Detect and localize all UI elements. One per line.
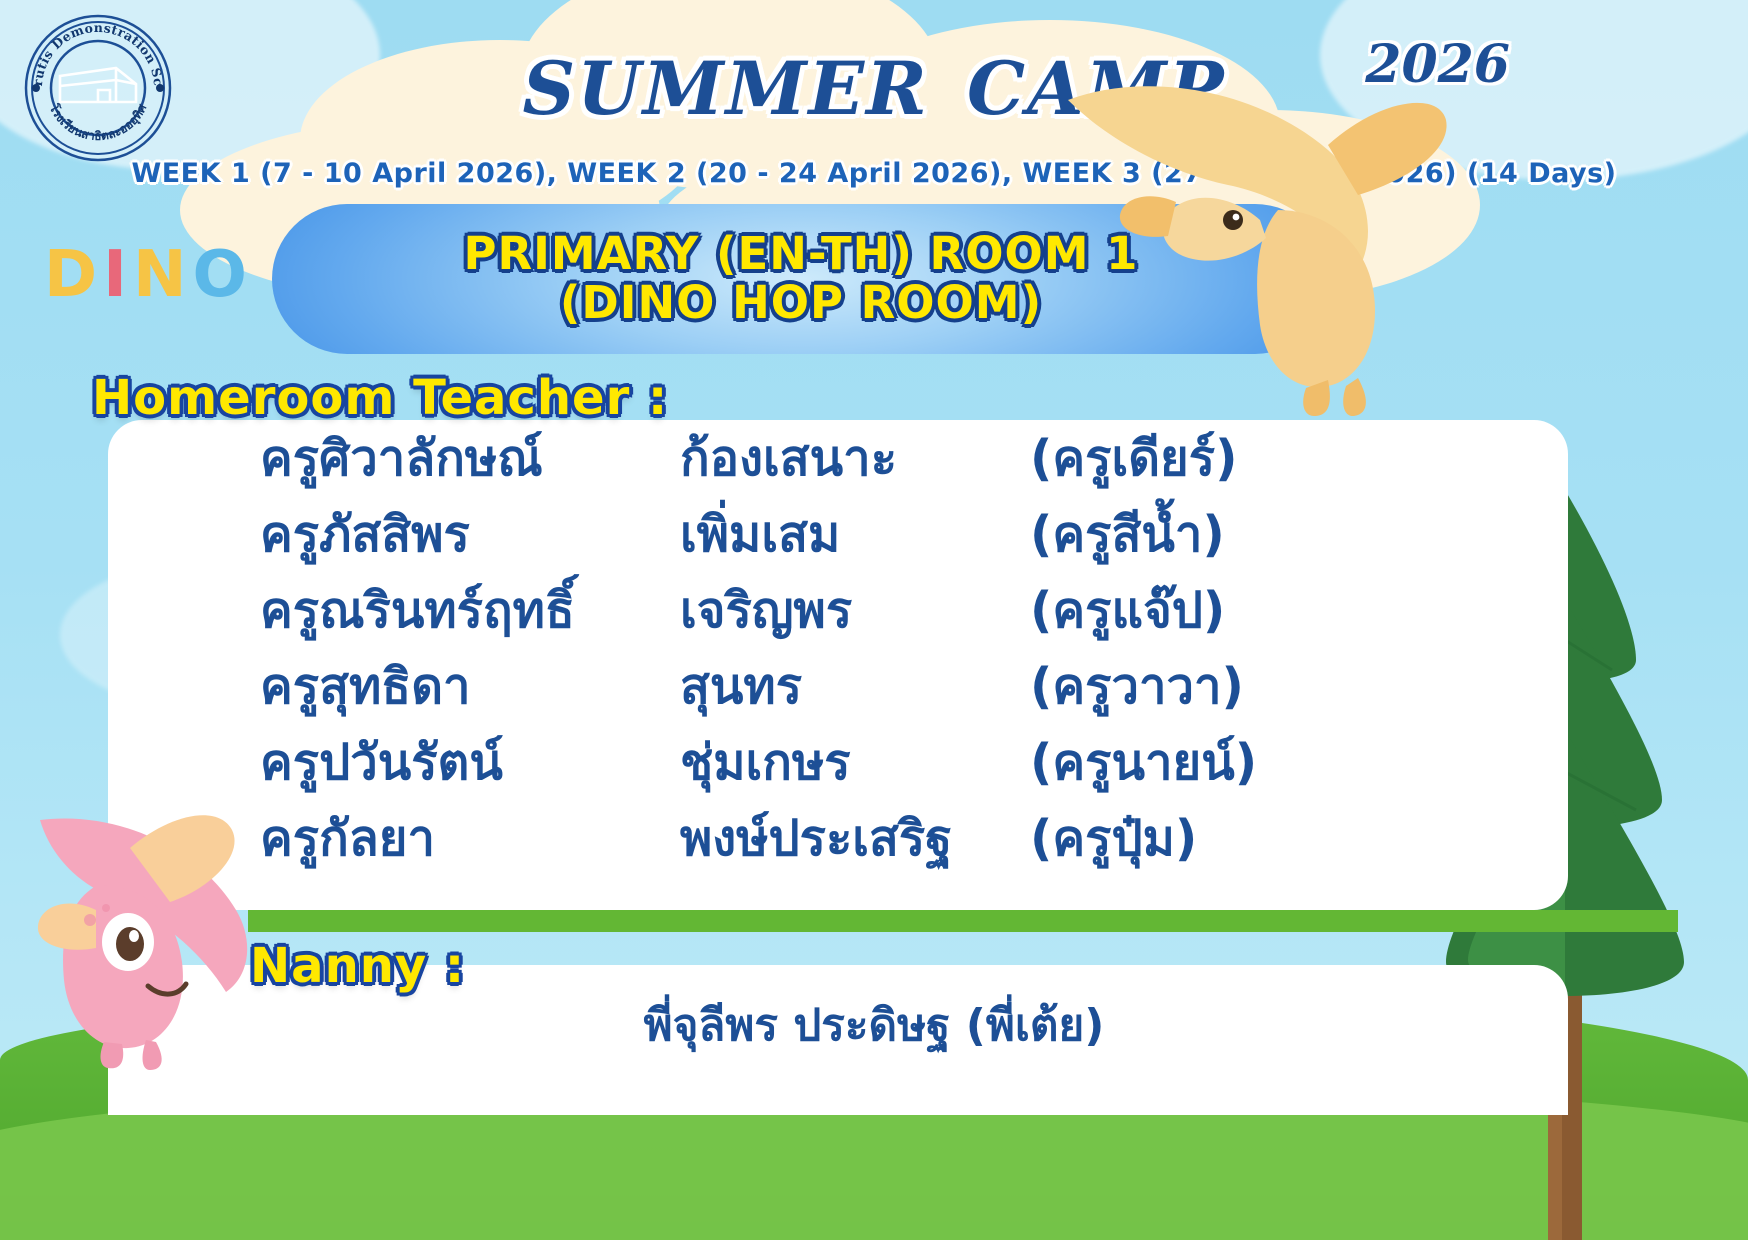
dino-letter-o: O	[193, 238, 253, 312]
table-row: ครูภัสสิพร เพิ่มเสม (ครูสีน้ำ)	[260, 510, 1560, 586]
school-logo: La-orutis Demonstration School โรงเรียนส…	[24, 14, 172, 162]
teacher-table: ครูศิวาลักษณ์ ก้องเสนาะ (ครูเดียร์) ครูภ…	[260, 434, 1560, 890]
teacher-nickname: (ครูสีน้ำ)	[1030, 510, 1450, 559]
teacher-nickname: (ครูปุ๋ม)	[1030, 814, 1450, 863]
teacher-last-name: สุนทร	[680, 662, 1030, 711]
table-row: ครูศิวาลักษณ์ ก้องเสนาะ (ครูเดียร์)	[260, 434, 1560, 510]
nanny-name: พี่จุลีพร ประดิษฐ (พี่เต้ย)	[644, 1000, 1105, 1051]
dino-letter-i: I	[103, 238, 133, 312]
teacher-first-name: ครูสุทธิดา	[260, 662, 680, 711]
teacher-last-name: ชุ่มเกษร	[680, 738, 1030, 787]
pterodactyl-icon	[1028, 60, 1448, 420]
room-banner-line-2: (DINO HOP ROOM)	[560, 279, 1042, 328]
teacher-last-name: เจริญพร	[680, 586, 1030, 635]
homeroom-teacher-label: Homeroom Teacher :	[92, 370, 668, 426]
dino-wordmark: DINO	[44, 238, 253, 312]
table-row: ครูสุทธิดา สุนทร (ครูวาวา)	[260, 662, 1560, 738]
teacher-nickname: (ครูเดียร์)	[1030, 434, 1450, 483]
teacher-first-name: ครูปวันรัตน์	[260, 738, 680, 787]
teacher-first-name: ครูศิวาลักษณ์	[260, 434, 680, 483]
teacher-first-name: ครูภัสสิพร	[260, 510, 680, 559]
dino-letter-n: N	[133, 238, 193, 312]
svg-text:โรงเรียนสาธิตละอออุทิศ: โรงเรียนสาธิตละอออุทิศ	[46, 101, 149, 143]
table-row: ครูณรินทร์ฤทธิ์ เจริญพร (ครูแจ๊ป)	[260, 586, 1560, 662]
teacher-first-name: ครูกัลยา	[260, 814, 680, 863]
pink-pterodactyl-icon	[10, 790, 310, 1070]
teacher-last-name: เพิ่มเสม	[680, 510, 1030, 559]
camp-weeks-text: WEEK 1 (7 - 10 April 2026), WEEK 2 (20 -…	[0, 158, 1748, 189]
dino-letter-d: D	[44, 238, 103, 312]
teacher-nickname: (ครูวาวา)	[1030, 662, 1450, 711]
poster-canvas: La-orutis Demonstration School โรงเรียนส…	[0, 0, 1748, 1240]
teacher-first-name: ครูณรินทร์ฤทธิ์	[260, 586, 680, 635]
teacher-last-name: ก้องเสนาะ	[680, 434, 1030, 483]
teacher-last-name: พงษ์ประเสริฐ	[680, 814, 1030, 863]
teacher-nickname: (ครูแจ๊ป)	[1030, 586, 1450, 635]
section-divider	[248, 910, 1678, 932]
table-row: ครูปวันรัตน์ ชุ่มเกษร (ครูนายน์)	[260, 738, 1560, 814]
teacher-nickname: (ครูนายน์)	[1030, 738, 1450, 787]
table-row: ครูกัลยา พงษ์ประเสริฐ (ครูปุ๋ม)	[260, 814, 1560, 890]
svg-text:La-orutis Demonstration School: La-orutis Demonstration School	[24, 14, 166, 87]
